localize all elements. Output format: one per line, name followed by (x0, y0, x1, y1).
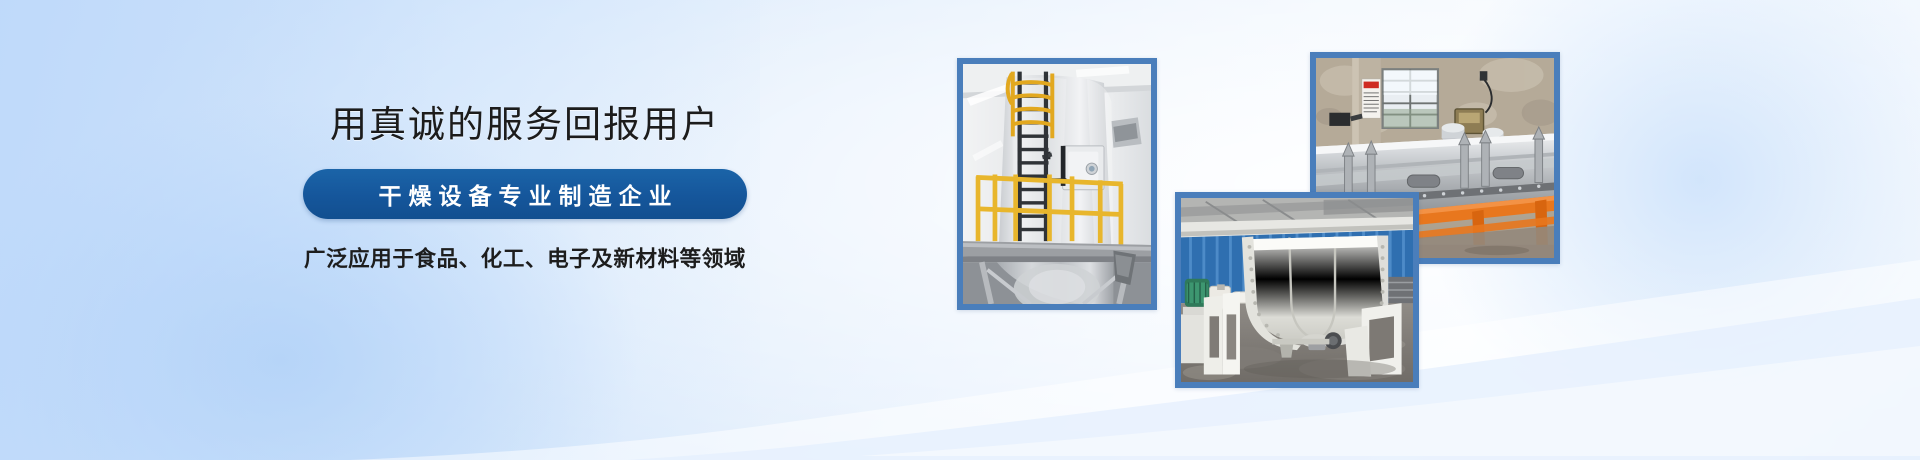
ribbon-mixer-image (1181, 198, 1413, 382)
status-badge: 干燥设备专业制造企业 (303, 169, 747, 219)
status-badge-label: 干燥设备专业制造企业 (372, 177, 679, 211)
photo-spray-dryer-tower[interactable] (957, 58, 1157, 310)
spray-dryer-tower-image (963, 64, 1151, 304)
hero-text-block: 用真诚的服务回报用户 干燥设备专业制造企业 广泛应用于食品、化工、电子及新材料等… (290, 104, 760, 273)
hero-banner: 用真诚的服务回报用户 干燥设备专业制造企业 广泛应用于食品、化工、电子及新材料等… (0, 0, 1920, 460)
photo-ribbon-mixer[interactable] (1175, 192, 1419, 388)
hero-subtitle: 广泛应用于食品、化工、电子及新材料等领域 (290, 242, 760, 273)
page-title: 用真诚的服务回报用户 (290, 104, 760, 147)
